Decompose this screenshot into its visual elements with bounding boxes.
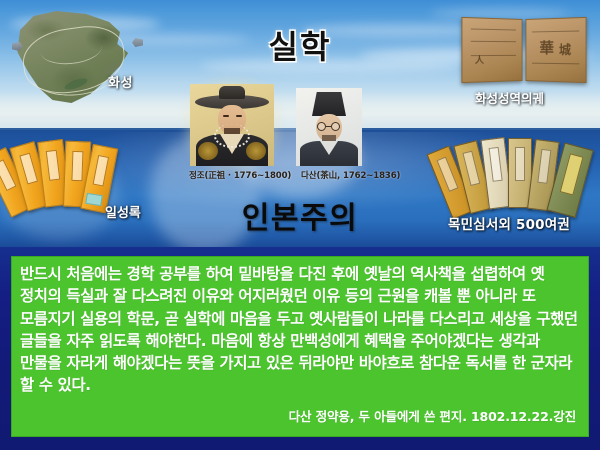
book-title-strip: [19, 153, 38, 185]
quote-panel: 반드시 처음에는 경학 공부를 하여 밑바탕을 다진 후에 옛날의 역사책을 섭…: [11, 256, 589, 437]
book-title-strip: [560, 153, 584, 195]
hat-crown-icon: [219, 86, 245, 99]
bead-necklace-icon: [214, 124, 250, 148]
book-title-strip: [462, 151, 480, 186]
glasses-icon: [317, 122, 326, 131]
king-portrait-icon: [190, 84, 274, 166]
cloud-icon: [430, 8, 570, 18]
dragon-emblem-icon: [198, 142, 218, 160]
eye-icon: [223, 115, 229, 117]
page-title: 실학: [0, 22, 600, 68]
book-title-strip: [489, 147, 503, 182]
caption-dasan: 다산(茶山, 1762~1836): [301, 169, 400, 181]
slide-canvas: 화성 일성록 人 華 城 화성성역의궤 목민심서외 500여권: [0, 0, 600, 450]
glasses-bridge-icon: [326, 126, 331, 127]
book-title-strip: [71, 151, 83, 181]
label-hwaseong-uigwe: 화성성역의궤: [475, 88, 544, 107]
scholar-hat-icon: [312, 92, 346, 116]
portrait-dasan: [296, 88, 362, 166]
glasses-icon: [331, 122, 340, 131]
book-title-strip: [437, 157, 459, 192]
portrait-jeongjo: [190, 84, 274, 166]
scholar-portrait-icon: [296, 88, 362, 166]
subtitle-humanism: 인본주의: [0, 193, 600, 237]
caption-jeongjo: 정조(正祖 · 1776~1800): [189, 169, 291, 181]
quote-text: 반드시 처음에는 경학 공부를 하여 밑바탕을 다진 후에 옛날의 역사책을 섭…: [20, 263, 580, 397]
label-hwaseong: 화성: [108, 72, 133, 91]
book-title-strip: [46, 150, 61, 181]
quote-source: 다산 정약용, 두 아들에게 쓴 편지. 1802.12.22.강진: [289, 406, 576, 425]
dragon-emblem-icon: [246, 142, 266, 160]
book-title-strip: [537, 149, 551, 184]
book-title-strip: [93, 155, 110, 187]
book-title-strip: [515, 147, 525, 181]
eye-icon: [236, 115, 242, 117]
